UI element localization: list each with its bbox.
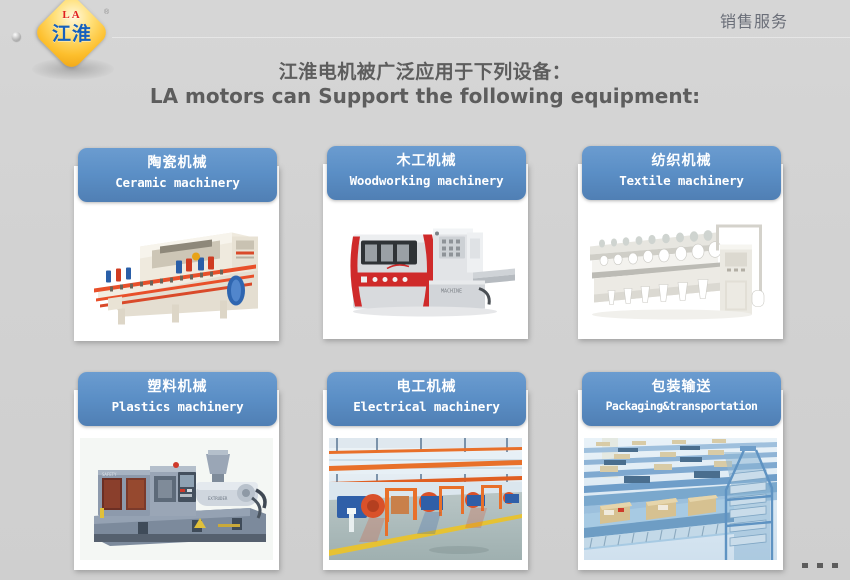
card-title-en: Ceramic machinery [78, 173, 277, 192]
card-title-cn: 陶瓷机械 [78, 154, 277, 173]
decorative-dot-left [12, 32, 21, 41]
nav-sales-service[interactable]: 销售服务 [720, 8, 788, 32]
equipment-card-textile[interactable]: 纺织机械 Textile machinery [578, 146, 783, 341]
svg-text:SAFETY: SAFETY [102, 472, 117, 477]
corner-dot [817, 563, 823, 568]
card-title-cn: 纺织机械 [582, 152, 781, 171]
equipment-grid: 陶瓷机械 Ceramic machinery [0, 140, 850, 580]
card-title-cn: 塑料机械 [78, 378, 277, 397]
card-title-en: Packaging&transportation [582, 397, 781, 416]
card-title-cn: 电工机械 [327, 378, 526, 397]
card-title-en: Electrical machinery [327, 397, 526, 416]
photo-woodworking-machinery: MACHINE [329, 210, 522, 331]
photo-electrical-machinery [329, 436, 522, 562]
svg-text:EXTRUDER: EXTRUDER [208, 496, 228, 501]
header-divider [112, 37, 850, 38]
logo-la-text: LA [42, 9, 102, 21]
equipment-card-electrical[interactable]: 电工机械 Electrical machinery [323, 372, 528, 572]
card-badge-plastics: 塑料机械 Plastics machinery [78, 372, 277, 426]
card-title-en: Woodworking machinery [327, 171, 526, 190]
logo-cn-text: 江淮 [42, 23, 102, 45]
card-badge-electrical: 电工机械 Electrical machinery [327, 372, 526, 426]
corner-dot [832, 563, 838, 568]
card-title-cn: 包装输送 [582, 378, 781, 397]
svg-text:MACHINE: MACHINE [441, 289, 462, 295]
card-badge-textile: 纺织机械 Textile machinery [582, 146, 781, 200]
equipment-card-plastics[interactable]: SAFETY [74, 372, 279, 572]
card-badge-woodworking: 木工机械 Woodworking machinery [327, 146, 526, 200]
corner-dots-decoration [802, 563, 838, 568]
photo-packaging-transportation [584, 436, 777, 562]
card-title-en: Plastics machinery [78, 397, 277, 416]
photo-textile-machinery [584, 210, 777, 331]
photo-plastics-machinery: SAFETY [80, 436, 273, 562]
equipment-card-ceramic[interactable]: 陶瓷机械 Ceramic machinery [74, 148, 279, 343]
equipment-card-woodworking[interactable]: MACHINE 木工机械 Woodworking machinery [323, 146, 528, 341]
card-badge-ceramic: 陶瓷机械 Ceramic machinery [78, 148, 277, 202]
card-title-en: Textile machinery [582, 171, 781, 190]
page-title-cn: 江淮电机被广泛应用于下列设备： [0, 57, 850, 84]
trademark-icon: ® [104, 9, 109, 16]
corner-dot [802, 563, 808, 568]
page-title-en: LA motors can Support the following equi… [0, 84, 850, 108]
card-badge-packaging: 包装输送 Packaging&transportation [582, 372, 781, 426]
card-title-cn: 木工机械 [327, 152, 526, 171]
logo-lettering: LA 江淮 [42, 4, 102, 62]
photo-ceramic-machinery [80, 212, 273, 333]
equipment-card-packaging[interactable]: 包装输送 Packaging&transportation [578, 372, 783, 572]
